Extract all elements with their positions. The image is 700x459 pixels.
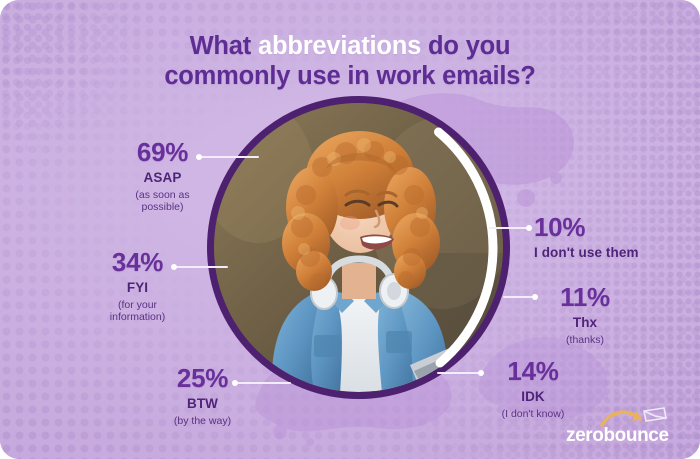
connector-line-thx [503,296,537,298]
connector-line-idk [437,372,483,374]
stat-i-dont-use-them: 10% I don't use them [534,214,684,261]
title-line-1: What abbreviations do you [0,31,700,61]
photo-ring-border [207,96,510,399]
stat-percent: 10% [534,214,684,240]
stat-expansion: (thanks) [540,334,630,347]
stat-abbreviation: I don't use them [534,245,684,261]
page-title: What abbreviations do you commonly use i… [0,31,700,91]
stat-abbreviation: IDK [478,389,588,405]
stat-abbreviation: FYI [80,280,195,296]
title-line1-pre: What [190,32,258,60]
stat-asap: 69% ASAP (as soon as possible) [105,139,220,214]
portrait-photo [207,96,510,399]
zerobounce-logo[interactable]: zerobounce [566,405,678,445]
stat-abbreviation: BTW [145,396,260,412]
stat-percent: 25% [145,365,260,391]
stat-fyi: 34% FYI (for your information) [80,249,195,324]
photo-image [214,103,503,392]
stat-percent: 69% [105,139,220,165]
stat-expansion: (by the way) [145,415,260,428]
stat-abbreviation: ASAP [105,170,220,186]
logo-wordmark: zerobounce [566,426,669,445]
stat-percent: 34% [80,249,195,275]
title-line1-post: do you [421,32,510,60]
stat-percent: 11% [540,284,630,310]
infographic-canvas: What abbreviations do you commonly use i… [0,0,700,459]
title-highlight-word: abbreviations [258,32,421,60]
stat-thx: 11% Thx (thanks) [540,284,630,346]
portrait-illustration [214,103,503,392]
title-line-2: commonly use in work emails? [0,61,700,91]
stat-btw: 25% BTW (by the way) [145,365,260,427]
connector-line-idontusethem [489,227,531,229]
stat-expansion: (for your information) [80,299,195,324]
stat-abbreviation: Thx [540,315,630,331]
stat-percent: 14% [478,358,588,384]
stat-expansion: (as soon as possible) [105,189,220,214]
